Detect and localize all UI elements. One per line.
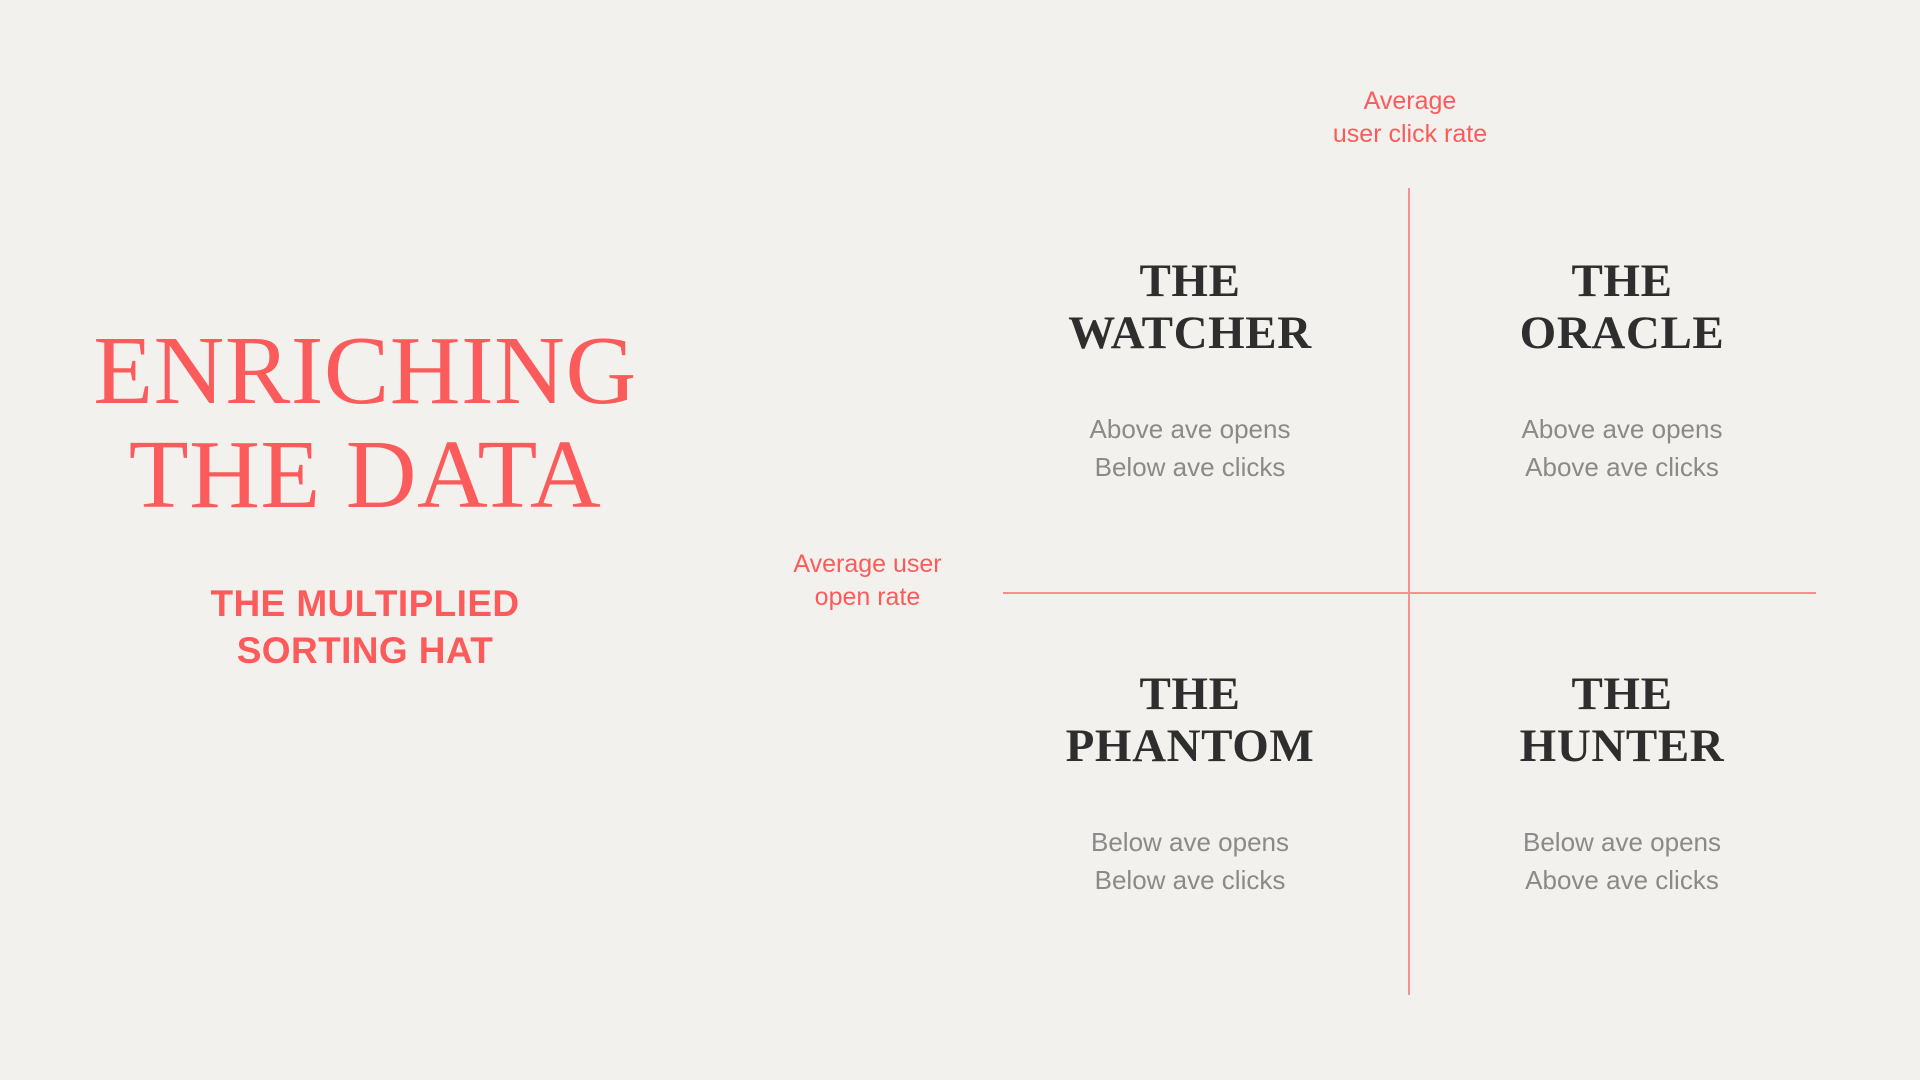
quadrant-hunter: THE HUNTER Below ave opens Above ave cli… [1432,668,1812,900]
quadrant-watcher: THE WATCHER Above ave opens Below ave cl… [1000,255,1380,487]
page-title: ENRICHING THE DATA [60,320,670,528]
quadrant-title-phantom: THE PHANTOM [1000,668,1380,772]
page-subtitle: THE MULTIPLIED SORTING HAT [60,580,670,675]
vertical-axis-line [1408,188,1410,995]
quadrant-oracle: THE ORACLE Above ave opens Above ave cli… [1432,255,1812,487]
quadrant-description-watcher: Above ave opens Below ave clicks [1000,411,1380,487]
slide-canvas: ENRICHING THE DATA THE MULTIPLIED SORTIN… [0,0,1920,1080]
quadrant-phantom: THE PHANTOM Below ave opens Below ave cl… [1000,668,1380,900]
headline-block: ENRICHING THE DATA THE MULTIPLIED SORTIN… [60,320,670,674]
vertical-axis-label: Average user click rate [1270,85,1550,150]
quadrant-description-phantom: Below ave opens Below ave clicks [1000,824,1380,900]
quadrant-title-watcher: THE WATCHER [1000,255,1380,359]
quadrant-title-oracle: THE ORACLE [1432,255,1812,359]
quadrant-title-hunter: THE HUNTER [1432,668,1812,772]
quadrant-description-hunter: Below ave opens Above ave clicks [1432,824,1812,900]
quadrant-description-oracle: Above ave opens Above ave clicks [1432,411,1812,487]
horizontal-axis-line [1003,592,1816,594]
horizontal-axis-label: Average user open rate [750,548,985,613]
